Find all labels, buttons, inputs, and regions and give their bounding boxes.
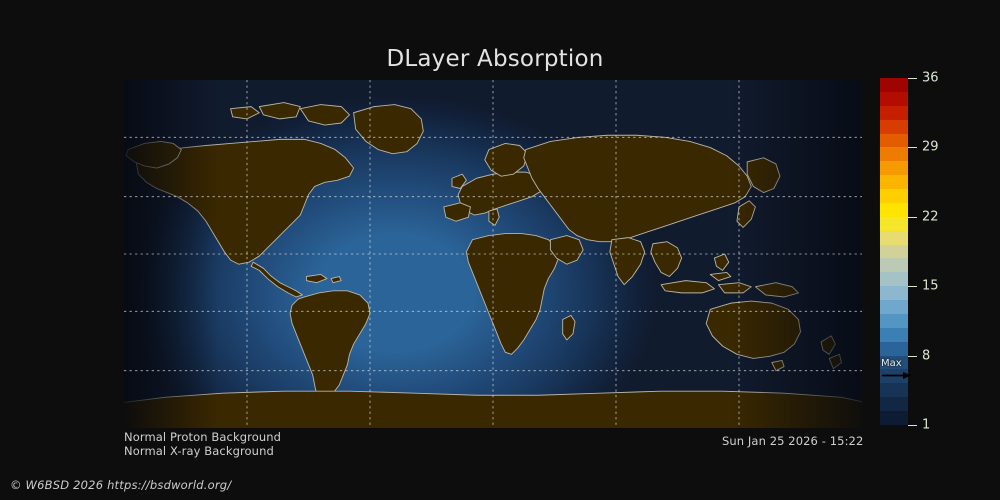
colorbar-segment	[880, 300, 908, 314]
colorbar-tick-label: 22	[922, 210, 939, 223]
colorbar-segment	[880, 286, 908, 300]
colorbar-segment	[880, 411, 908, 425]
timestamp: Sun Jan 25 2026 - 15:22	[722, 434, 863, 448]
colorbar-tick-label: 29	[922, 141, 939, 154]
status-xray-background: Normal X-ray Background	[124, 444, 274, 458]
colorbar-segment	[880, 134, 908, 148]
colorbar-segment	[880, 328, 908, 342]
colorbar-segment	[880, 106, 908, 120]
colorbar-segment	[880, 383, 908, 397]
status-proton-background: Normal Proton Background	[124, 430, 281, 444]
colorbar-segment	[880, 314, 908, 328]
colorbar-tick-mark	[908, 425, 917, 426]
colorbar-tick-mark	[908, 217, 917, 218]
colorbar-segment	[880, 189, 908, 203]
colorbar-segment	[880, 231, 908, 245]
colorbar-segment	[880, 92, 908, 106]
world-map	[124, 80, 862, 428]
colorbar-segment	[880, 147, 908, 161]
colorbar-tick-label: 36	[922, 72, 939, 85]
colorbar-segment	[880, 258, 908, 272]
colorbar-max-label: Max	[881, 359, 902, 369]
colorbar-segment	[880, 217, 908, 231]
map-svg	[124, 80, 862, 428]
colorbar-tick-mark	[908, 147, 917, 148]
colorbar-segment	[880, 397, 908, 411]
terminator-west	[124, 80, 218, 428]
colorbar-ticks: 1815222936	[908, 78, 968, 425]
colorbar-segment	[880, 120, 908, 134]
colorbar-tick-mark	[908, 286, 917, 287]
page-title: DLayer Absorption	[0, 46, 990, 72]
colorbar-segment	[880, 342, 908, 356]
max-arrow-icon	[881, 371, 911, 380]
colorbar-tick-label: 8	[922, 349, 930, 362]
colorbar-segment	[880, 245, 908, 259]
colorbar-segment	[880, 78, 908, 92]
colorbar-segment	[880, 161, 908, 175]
colorbar-tick-label: 1	[922, 419, 930, 432]
colorbar-tick-label: 15	[922, 280, 939, 293]
colorbar-tick-mark	[908, 356, 917, 357]
copyright-notice: © W6BSD 2026 https://bsdworld.org/	[10, 478, 231, 492]
colorbar-segment	[880, 272, 908, 286]
colorbar-segment	[880, 175, 908, 189]
colorbar-segment	[880, 203, 908, 217]
colorbar-tick-mark	[908, 78, 917, 79]
